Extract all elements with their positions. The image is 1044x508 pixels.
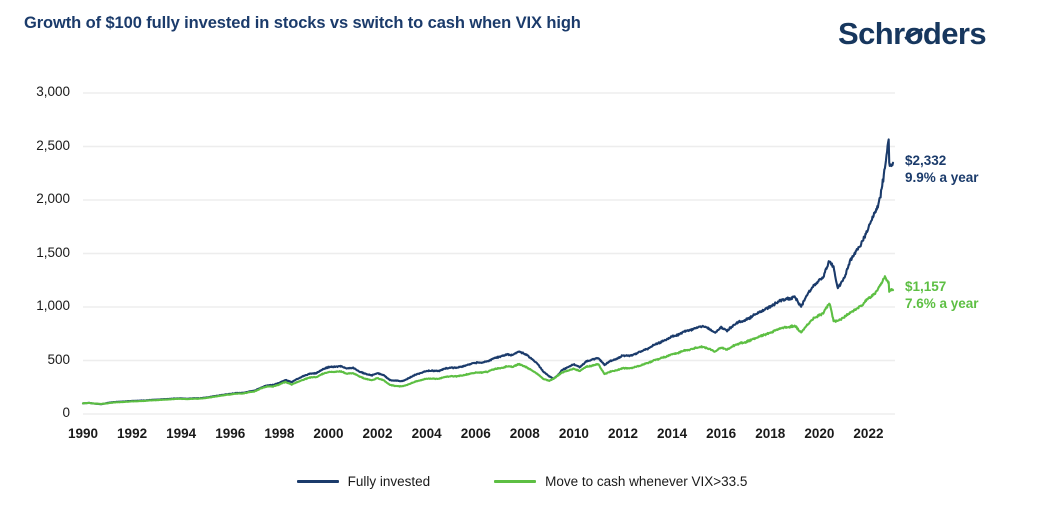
legend-swatch-green [494, 480, 536, 483]
plot-area: 05001,0001,5002,0002,5003,000 1990199219… [0, 0, 1044, 508]
y-axis-tick-label: 2,500 [8, 138, 70, 153]
annotation-value: $2,332 [905, 152, 979, 169]
series-line-fully-invested [83, 139, 893, 404]
annotation-rate: 7.6% a year [905, 295, 979, 312]
annotation-move-to-cash: $1,1577.6% a year [905, 278, 979, 312]
legend-label-move-to-cash: Move to cash whenever VIX>33.5 [545, 474, 747, 489]
annotation-fully-invested: $2,3329.9% a year [905, 152, 979, 186]
y-axis-tick-label: 3,000 [8, 84, 70, 99]
y-axis-tick-label: 0 [8, 405, 70, 420]
chart-page: Growth of $100 fully invested in stocks … [0, 0, 1044, 508]
series-lines [83, 139, 893, 404]
y-axis-tick-label: 1,000 [8, 298, 70, 313]
chart-legend: Fully invested Move to cash whenever VIX… [0, 474, 1044, 489]
y-axis-tick-label: 1,500 [8, 245, 70, 260]
legend-label-fully-invested: Fully invested [348, 474, 431, 489]
annotation-rate: 9.9% a year [905, 169, 979, 186]
y-axis-tick-label: 2,000 [8, 191, 70, 206]
y-axis-tick-label: 500 [8, 352, 70, 367]
legend-swatch-navy [297, 480, 339, 483]
legend-item-move-to-cash[interactable]: Move to cash whenever VIX>33.5 [494, 474, 747, 489]
x-axis-tick-label: 2022 [838, 426, 898, 441]
annotation-value: $1,157 [905, 278, 979, 295]
gridlines [83, 93, 895, 414]
legend-item-fully-invested[interactable]: Fully invested [297, 474, 431, 489]
series-line-move-to-cash [83, 276, 893, 404]
